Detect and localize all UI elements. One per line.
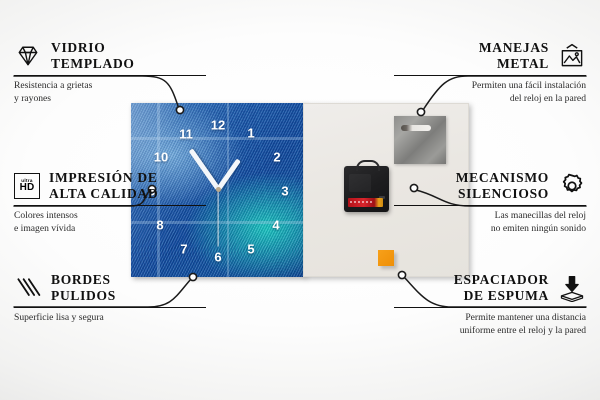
callout-title: VIDRIO TEMPLADO [51, 40, 135, 72]
polished-edges-icon [14, 274, 42, 302]
callout-subtitle-line2: del reloj en la pared [371, 93, 586, 105]
callout-subtitle-line1: Las manecillas del reloj [371, 210, 586, 222]
foam-spacer-icon [558, 274, 586, 302]
callout-title: BORDES PULIDOS [51, 272, 116, 304]
callout-title: MECANISMO SILENCIOSO [456, 170, 549, 202]
callout-title: ESPACIADOR DE ESPUMA [454, 272, 549, 304]
gear-icon [558, 172, 586, 200]
foam-spacer-square [378, 250, 394, 266]
callout-header: MECANISMO SILENCIOSO [371, 170, 586, 202]
callout-espaciador-espuma: ESPACIADOR DE ESPUMA Permite mantener un… [371, 272, 586, 337]
clock-numeral-10: 10 [154, 151, 168, 164]
callout-subtitle-line1: Resistencia a grietas [14, 80, 229, 92]
callout-divider [14, 307, 206, 308]
clock-numeral-2: 2 [273, 151, 280, 164]
clock-numeral-1: 1 [247, 127, 254, 140]
clock-numeral-5: 5 [247, 243, 254, 256]
callout-divider [14, 205, 206, 206]
ultra-hd-icon-main-text: HD [20, 183, 35, 193]
callout-manejas-metal: MANEJAS METAL Permiten una fácil instala… [371, 40, 586, 105]
callout-impresion-alta-calidad: ultra HD IMPRESIÓN DE ALTA CALIDAD Color… [14, 170, 229, 235]
callout-header: ESPACIADOR DE ESPUMA [371, 272, 586, 304]
infographic-canvas: 12 1 2 3 4 5 6 7 8 9 10 11 [0, 0, 600, 400]
callout-subtitle-line2: no emiten ningún sonido [371, 223, 586, 235]
clock-numeral-3: 3 [281, 185, 288, 198]
callout-subtitle-line2: y rayones [14, 93, 229, 105]
callout-subtitle-line2: e imagen vívida [14, 223, 229, 235]
callout-divider [394, 205, 586, 206]
mechanism-panel [349, 174, 371, 192]
callout-header: VIDRIO TEMPLADO [14, 40, 229, 72]
callout-divider [394, 307, 586, 308]
diamond-icon [14, 42, 42, 70]
callout-header: ultra HD IMPRESIÓN DE ALTA CALIDAD [14, 170, 229, 202]
callout-subtitle-line1: Colores intensos [14, 210, 229, 222]
clock-numeral-11: 11 [179, 128, 193, 141]
callout-title: IMPRESIÓN DE ALTA CALIDAD [49, 170, 158, 202]
callout-header: MANEJAS METAL [371, 40, 586, 72]
callout-divider [14, 75, 206, 76]
callout-vidrio-templado: VIDRIO TEMPLADO Resistencia a grietas y … [14, 40, 229, 105]
callout-divider [394, 75, 586, 76]
callout-subtitle-line1: Superficie lisa y segura [14, 312, 229, 324]
callout-header: BORDES PULIDOS [14, 272, 229, 304]
callout-bordes-pulidos: BORDES PULIDOS Superficie lisa y segura [14, 272, 229, 325]
callout-title: MANEJAS METAL [479, 40, 549, 72]
clock-numeral-6: 6 [214, 251, 221, 264]
picture-hanger-icon [558, 42, 586, 70]
callout-subtitle-line1: Permiten una fácil instalación [371, 80, 586, 92]
callout-subtitle-line2: uniforme entre el reloj y la pared [371, 325, 586, 337]
metal-hanger-plate [394, 116, 446, 164]
callout-subtitle-line1: Permite mantener una distancia [371, 312, 586, 324]
clock-numeral-7: 7 [180, 243, 187, 256]
clock-numeral-12: 12 [211, 119, 225, 132]
clock-numeral-4: 4 [272, 219, 279, 232]
callout-mecanismo-silencioso: MECANISMO SILENCIOSO Las manecillas del … [371, 170, 586, 235]
ultra-hd-icon: ultra HD [14, 173, 40, 199]
hanger-slot [401, 125, 431, 131]
